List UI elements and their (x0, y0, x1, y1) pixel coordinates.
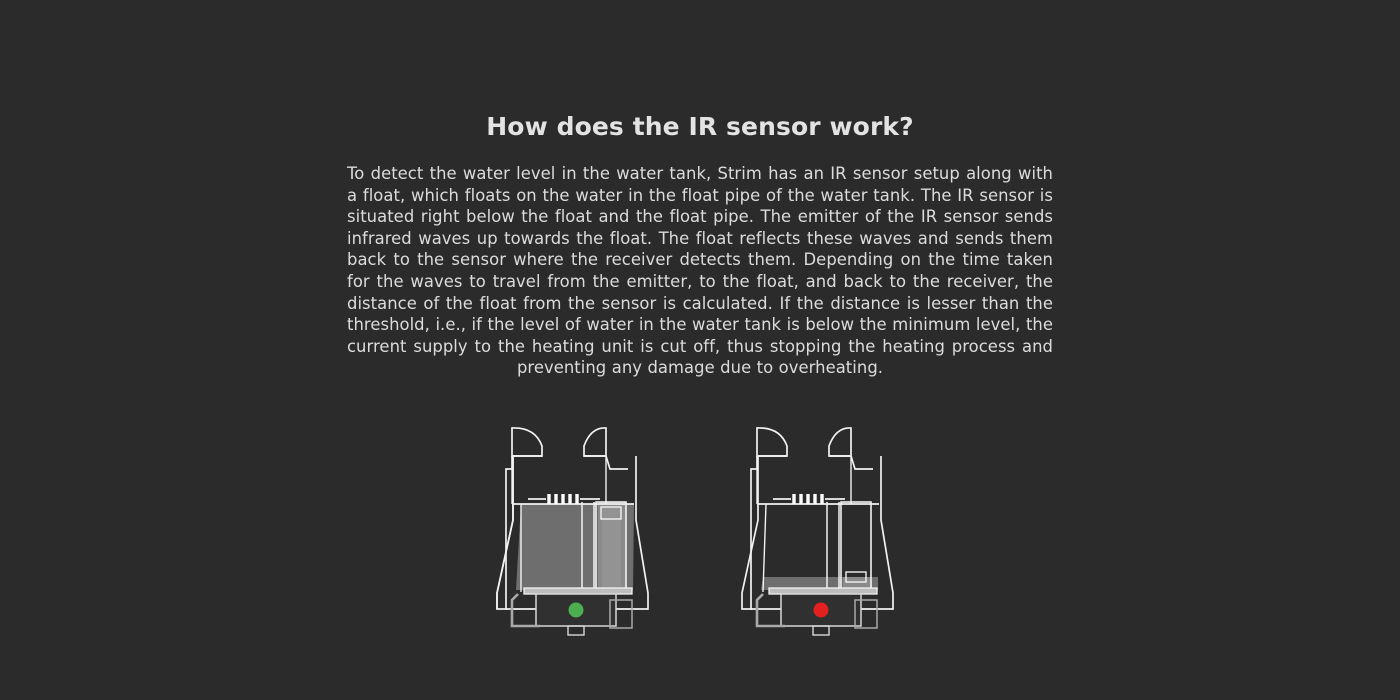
diagram-water-level-low (733, 420, 913, 644)
shoulder-left (506, 456, 512, 610)
diagram-water-level-sufficient (488, 420, 668, 644)
shoulder-right (851, 456, 873, 469)
diagram-container (0, 420, 1400, 660)
article-paragraph: To detect the water level in the water t… (347, 163, 1053, 379)
green-status-led (569, 603, 584, 618)
geyser-cutaway-svg-green (488, 420, 668, 640)
float-pipe-fill (598, 502, 626, 590)
ir-wave-dashes (794, 494, 822, 504)
red-status-led (814, 603, 829, 618)
drain-connector (568, 626, 584, 635)
base-plate (524, 588, 632, 594)
base-plate (769, 588, 877, 594)
right-nozzle-dome (829, 428, 851, 456)
page-title: How does the IR sensor work? (347, 112, 1053, 142)
article-block: How does the IR sensor work? To detect t… (347, 112, 1053, 379)
drain-connector (813, 626, 829, 635)
page-root: How does the IR sensor work? To detect t… (0, 0, 1400, 700)
ir-wave-dashes (549, 494, 577, 504)
right-nozzle-dome (584, 428, 606, 456)
shoulder-left (751, 456, 757, 610)
outer-shell-left-edge (497, 456, 513, 609)
left-nozzle-dome (512, 428, 542, 456)
left-nozzle-dome (757, 428, 787, 456)
geyser-cutaway-svg-red (733, 420, 913, 640)
shoulder-right (606, 456, 628, 469)
